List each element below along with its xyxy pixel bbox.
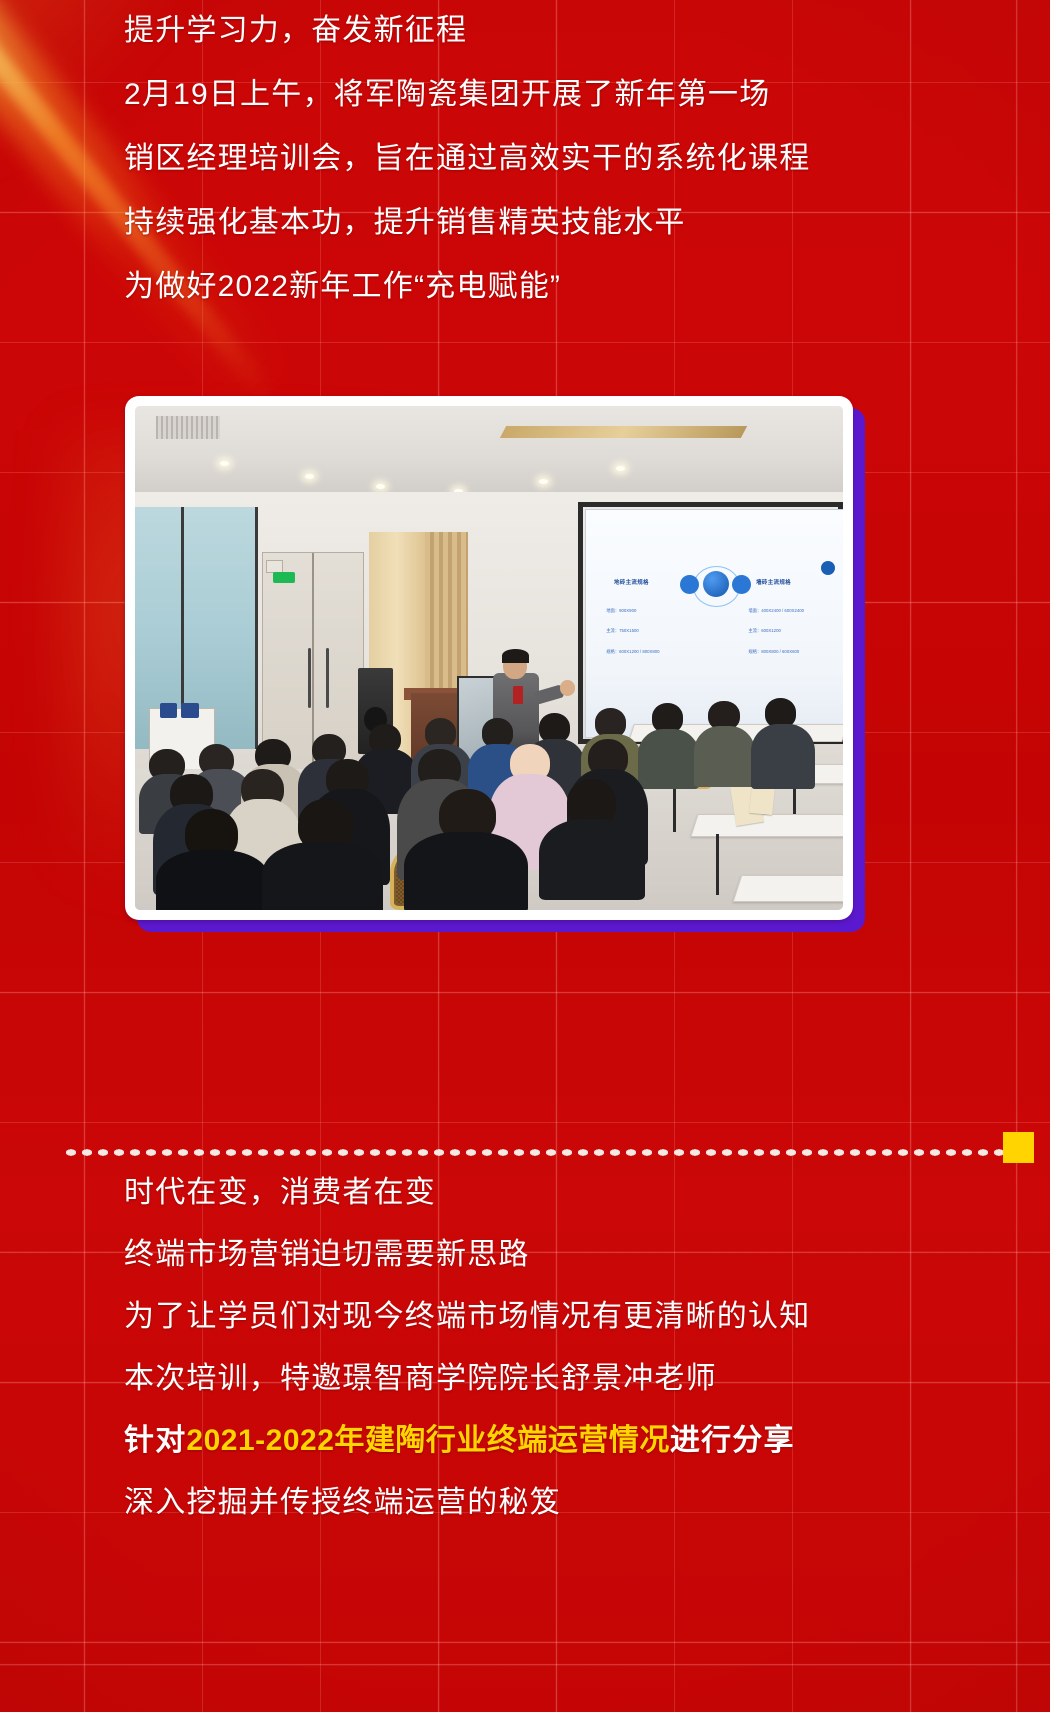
photo-audience-body [638, 729, 699, 789]
photo-audience-body [262, 842, 382, 910]
photo-desk-leg [716, 834, 719, 894]
divider-accent-square [1003, 1132, 1034, 1163]
photo-ceiling-strip [500, 426, 747, 438]
section-divider [64, 1146, 1004, 1155]
photo-microphone [513, 686, 523, 704]
photo-screen-logo [821, 561, 835, 575]
photo-desk-leg [673, 781, 676, 831]
photo-desk [732, 875, 843, 902]
photo-presenter-hand [560, 680, 576, 696]
poster-canvas: 提升学习力，奋发新征程 2月19日上午，将军陶瓷集团开展了新年第一场 销区经理培… [0, 0, 1050, 1712]
photo-presenter-hair [502, 649, 529, 662]
screen-left-row-1: 地面：900X900 [606, 608, 636, 614]
photo-emergency-box [266, 560, 283, 573]
screen-right-row-1: 墙面：400X2400 / 600X2400 [748, 608, 804, 614]
bottom-text-block: 时代在变，消费者在变 终端市场营销迫切需要新思路 为了让学员们对现今终端市场情况… [124, 1178, 1004, 1550]
bottom-line-3: 为了让学员们对现今终端市场情况有更清晰的认知 [124, 1302, 1004, 1332]
photo-audience-body [156, 850, 269, 910]
photo-downlight [376, 484, 385, 489]
photo-audience-body [694, 726, 755, 786]
photo-white-frame: 地砖主流规格 地面：900X900 主流：750X1500 规格：600X120… [125, 396, 853, 920]
screen-left-row-2: 主流：750X1500 [606, 628, 639, 634]
bottom-line-5-highlight: 2021-2022年建陶行业终端运营情况 [186, 1424, 669, 1457]
training-photo-card: 地砖主流规格 地面：900X900 主流：750X1500 规格：600X120… [125, 396, 853, 920]
top-line-3: 销区经理培训会，旨在通过高效实干的系统化课程 [124, 144, 1004, 174]
photo-exit-sign [273, 572, 295, 583]
screen-right-row-3: 规格：800X800 / 600X600 [748, 649, 799, 655]
screen-right-row-2: 主流：600X1200 [748, 628, 781, 634]
top-line-1: 提升学习力，奋发新征程 [124, 16, 1004, 46]
photo-whiteboard-item [181, 703, 199, 718]
photo-downlight [539, 479, 548, 484]
photo-downlight [305, 474, 314, 479]
photo-ceiling-vent [156, 416, 220, 439]
photo-screen-diagram [684, 570, 746, 600]
photo-desk [691, 814, 843, 837]
top-line-5: 为做好2022新年工作“充电赋能” [124, 272, 1004, 302]
bottom-line-4: 本次培训，特邀璟智商学院院长舒景冲老师 [124, 1364, 1004, 1394]
screen-right-title: 墙砖主流规格 [756, 578, 791, 586]
top-line-2: 2月19日上午，将军陶瓷集团开展了新年第一场 [124, 80, 1004, 110]
screen-left-row-3: 规格：600X1200 / 800X800 [606, 649, 659, 655]
bottom-line-2: 终端市场营销迫切需要新思路 [124, 1240, 1004, 1270]
diagram-node-right [732, 575, 751, 594]
bottom-line-5-prefix: 针对 [124, 1424, 186, 1457]
bottom-line-5: 针对2021-2022年建陶行业终端运营情况进行分享 [124, 1426, 1004, 1456]
dashed-line [64, 1148, 1004, 1157]
photo-ceiling [135, 406, 843, 492]
photo-audience-body [539, 819, 645, 900]
photo-audience-body [404, 832, 528, 910]
diagram-node-center [703, 571, 729, 597]
bottom-line-5-suffix: 进行分享 [670, 1424, 795, 1457]
top-text-block: 提升学习力，奋发新征程 2月19日上午，将军陶瓷集团开展了新年第一场 销区经理培… [124, 16, 1004, 336]
bottom-line-1: 时代在变，消费者在变 [124, 1178, 1004, 1208]
training-photo: 地砖主流规格 地面：900X900 主流：750X1500 规格：600X120… [135, 406, 843, 910]
diagram-node-left [680, 575, 699, 594]
bottom-line-6: 深入挖掘并传授终端运营的秘笈 [124, 1488, 1004, 1518]
photo-audience-body [751, 724, 815, 790]
screen-left-title: 地砖主流规格 [614, 578, 649, 586]
top-line-4: 持续强化基本功，提升销售精英技能水平 [124, 208, 1004, 238]
photo-door-handle [308, 648, 311, 708]
photo-door-handle [326, 648, 329, 708]
photo-whiteboard-item [160, 703, 178, 718]
